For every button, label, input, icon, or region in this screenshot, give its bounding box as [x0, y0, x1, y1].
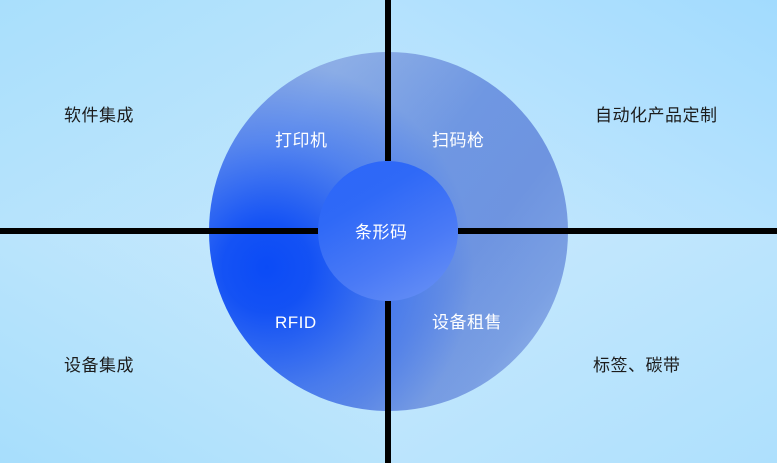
- quadrant-label-label-ribbon: 标签、碳带: [593, 357, 681, 374]
- quadrant-label-automation-product: 自动化产品定制: [595, 107, 718, 124]
- vertical-axis-line-bottom: [385, 301, 391, 463]
- ring-label-printer: 打印机: [275, 132, 328, 149]
- quadrant-label-device-integration: 设备集成: [64, 357, 134, 374]
- vertical-axis-line-top: [385, 0, 391, 161]
- horizontal-axis-line-left: [0, 228, 318, 234]
- horizontal-axis-line-right: [458, 228, 777, 234]
- ring-label-rfid: RFID: [275, 314, 317, 331]
- quadrant-label-software-integration: 软件集成: [64, 107, 134, 124]
- ring-label-equipment-rental: 设备租售: [432, 314, 502, 331]
- ring-label-scanner: 扫码枪: [432, 132, 485, 149]
- quadrant-diagram-canvas: 软件集成 自动化产品定制 设备集成 标签、碳带 打印机 扫码枪 RFID 设备租…: [0, 0, 777, 463]
- center-label-barcode: 条形码: [355, 224, 408, 241]
